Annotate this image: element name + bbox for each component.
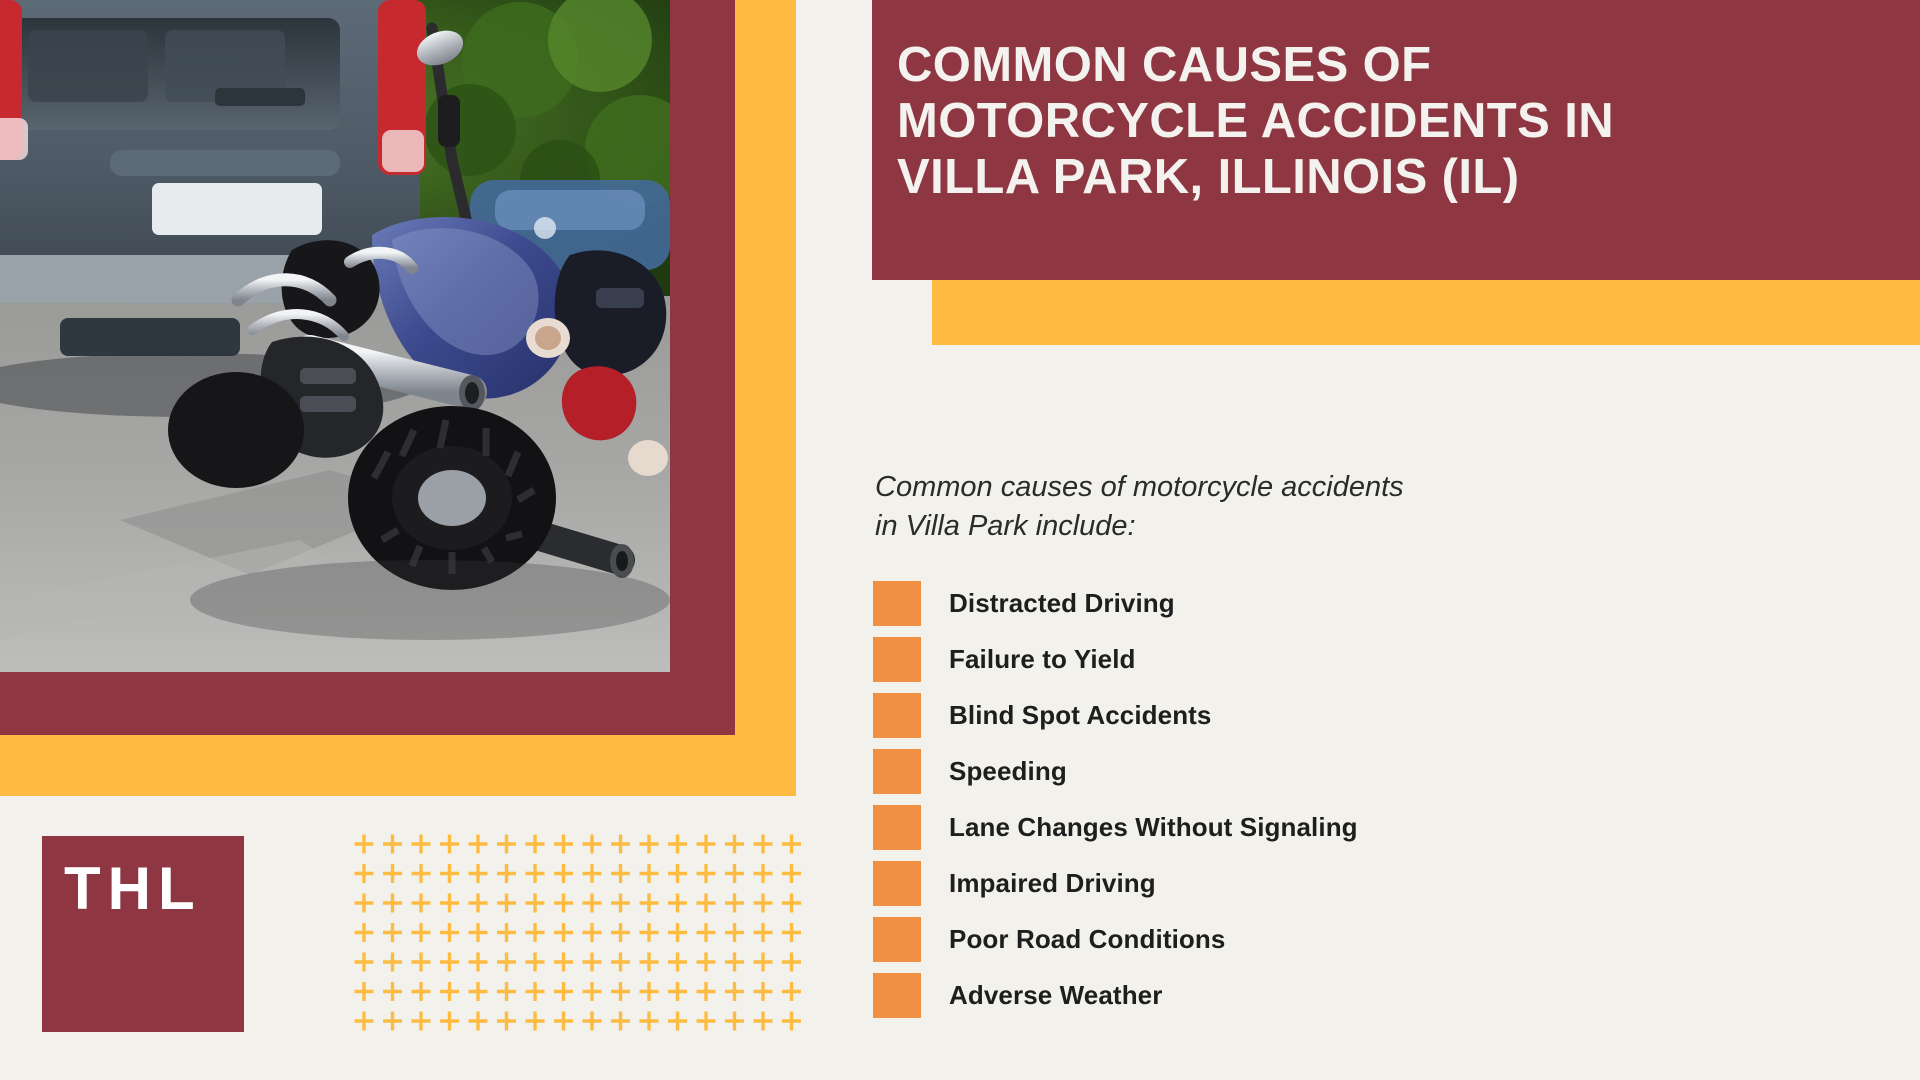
list-item: Speeding — [873, 749, 1873, 794]
square-bullet-icon — [873, 917, 921, 962]
intro-text: Common causes of motorcycle accidents in… — [875, 468, 1675, 546]
square-bullet-icon — [873, 805, 921, 850]
square-bullet-icon — [873, 637, 921, 682]
square-bullet-icon — [873, 749, 921, 794]
intro-line-1: Common causes of motorcycle accidents — [875, 468, 1675, 507]
square-bullet-icon — [873, 973, 921, 1018]
list-item-label: Lane Changes Without Signaling — [949, 812, 1358, 843]
list-item-label: Adverse Weather — [949, 980, 1162, 1011]
infographic-canvas: COMMON CAUSES OF MOTORCYCLE ACCIDENTS IN… — [0, 0, 1920, 1080]
page-title-line-1: COMMON CAUSES OF — [897, 38, 1897, 94]
page-title-line-2: MOTORCYCLE ACCIDENTS IN — [897, 94, 1897, 150]
list-item-label: Distracted Driving — [949, 588, 1175, 619]
header-accent-bar — [932, 280, 1920, 345]
list-item-label: Speeding — [949, 756, 1067, 787]
list-item: Blind Spot Accidents — [873, 693, 1873, 738]
header-block: COMMON CAUSES OF MOTORCYCLE ACCIDENTS IN… — [872, 0, 1920, 280]
list-item: Poor Road Conditions — [873, 917, 1873, 962]
page-title: COMMON CAUSES OF MOTORCYCLE ACCIDENTS IN… — [897, 38, 1897, 206]
list-item: Adverse Weather — [873, 973, 1873, 1018]
square-bullet-icon — [873, 693, 921, 738]
list-item: Lane Changes Without Signaling — [873, 805, 1873, 850]
thl-logo: THL — [42, 836, 244, 1032]
intro-line-2: in Villa Park include: — [875, 507, 1675, 546]
list-item: Impaired Driving — [873, 861, 1873, 906]
page-title-line-3: VILLA PARK, ILLINOIS (IL) — [897, 150, 1897, 206]
list-item-label: Poor Road Conditions — [949, 924, 1225, 955]
square-bullet-icon — [873, 581, 921, 626]
list-item-label: Failure to Yield — [949, 644, 1136, 675]
list-item-label: Blind Spot Accidents — [949, 700, 1212, 731]
thl-logo-text: THL — [64, 854, 202, 923]
plus-pattern-decoration — [352, 832, 804, 1045]
list-item: Distracted Driving — [873, 581, 1873, 626]
square-bullet-icon — [873, 861, 921, 906]
list-item-label: Impaired Driving — [949, 868, 1156, 899]
causes-list: Distracted Driving Failure to Yield Blin… — [873, 581, 1873, 1029]
motorcycle-accident-photo — [0, 0, 670, 672]
list-item: Failure to Yield — [873, 637, 1873, 682]
